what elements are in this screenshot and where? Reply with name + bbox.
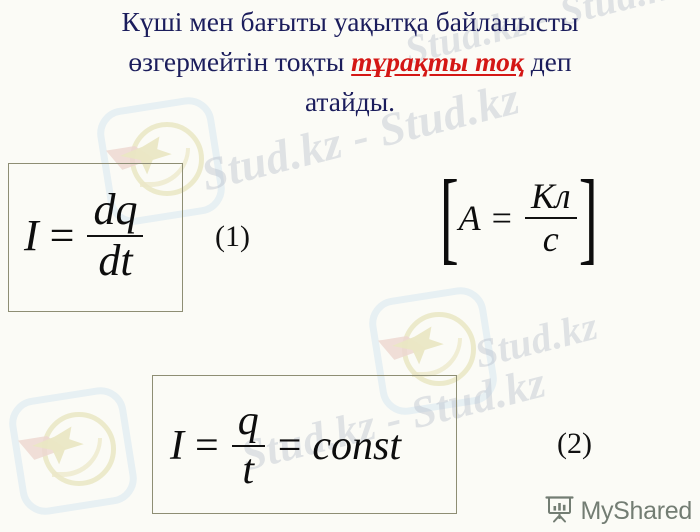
title-line-1: Күші мен бағыты уақытқа байланысты [0, 2, 700, 42]
formula-1-operator: = [41, 210, 84, 261]
title-line-2: өзгермейтін тоқты тұрақты тоқ деп [0, 42, 700, 82]
bracket-right: ] [578, 185, 597, 249]
title-highlight-term: тұрақты тоқ [351, 46, 524, 77]
title-line-2-prefix: өзгермейтін тоқты [128, 46, 351, 77]
slide-title: Күші мен бағыты уақытқа байланысты өзгер… [0, 2, 700, 122]
formula-units-fraction: Кл с [521, 178, 581, 257]
presentation-board-icon [545, 495, 575, 528]
formula-2-fraction: q t [228, 400, 269, 492]
slide-content: Күші мен бағыты уақытқа байланысты өзгер… [0, 0, 700, 532]
formula-units-operator: = [483, 197, 521, 239]
formula-2-operator-2: = [269, 422, 311, 470]
formula-2-lhs: I [168, 422, 186, 470]
formula-1: I = dq dt [22, 188, 147, 284]
formula-1-numerator: dq [87, 188, 143, 233]
formula-2-number: (2) [557, 427, 592, 461]
formula-units-denominator: с [537, 221, 565, 258]
formula-1-denominator: dt [92, 239, 138, 284]
formula-1-number: (1) [215, 220, 250, 254]
formula-2-operator: = [186, 422, 228, 470]
formula-units: [ A = Кл с ] [432, 178, 605, 257]
bracket-left: [ [440, 185, 459, 249]
formula-2-numerator: q [232, 400, 265, 443]
formula-2: I = q t = const [168, 400, 403, 492]
myshared-label: MyShared [580, 497, 692, 526]
formula-1-lhs: I [22, 210, 41, 261]
slide-canvas: Stud.kz - Stud.kz Stud.kz - Stud.kz Stud… [0, 0, 700, 532]
title-line-2-suffix: деп [524, 46, 572, 77]
formula-2-rhs: const [310, 422, 403, 470]
myshared-branding[interactable]: MyShared [545, 495, 692, 528]
title-line-3: атайды. [0, 82, 700, 122]
formula-2-denominator: t [236, 449, 260, 492]
formula-units-numerator: Кл [525, 178, 577, 215]
formula-units-lhs: A [457, 197, 483, 239]
formula-1-fraction: dq dt [83, 188, 147, 284]
